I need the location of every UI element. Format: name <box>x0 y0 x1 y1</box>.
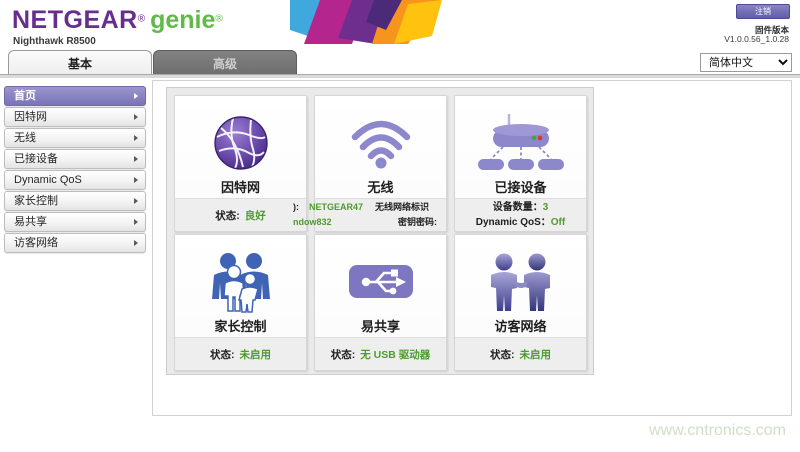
page-header: NETGEAR®genie® Nighthawk R8500 注销 固件版本 V… <box>0 0 800 48</box>
chevron-right-icon <box>134 135 138 141</box>
qos-value: Off <box>551 217 565 228</box>
device-count-row: 设备数量：3 <box>455 200 586 215</box>
sidebar-nav: 首页 因特网 无线 已接设备 Dynamic QoS 家长控制 易共享 访客网 <box>4 86 148 254</box>
sidebar-item-internet[interactable]: 因特网 <box>4 107 146 127</box>
device-count-label: 设备数量： <box>493 202 543 213</box>
handshake-people-icon <box>455 243 586 321</box>
tile-parental-controls[interactable]: 家长控制 状态: 未启用 <box>174 234 307 371</box>
qos-row: Dynamic QoS：Off <box>455 215 586 230</box>
tile-readyshare[interactable]: 易共享 状态: 无 USB 驱动器 <box>314 234 447 371</box>
tile-icon-area: 已接设备 <box>455 96 586 200</box>
wireless-password-label: 密钥密码: <box>398 215 437 229</box>
tile-internet[interactable]: 因特网 状态: 良好 <box>174 95 307 232</box>
genie-wordmark: genie <box>150 6 215 34</box>
usb-icon <box>315 243 446 321</box>
router-devices-icon <box>455 104 586 182</box>
tab-strip-divider <box>0 74 800 78</box>
tile-icon-area: 因特网 <box>175 96 306 200</box>
tab-basic[interactable]: 基本 <box>8 50 152 76</box>
tile-title: 家长控制 <box>175 316 306 335</box>
router-model-label: Nighthawk R8500 <box>13 36 96 47</box>
qos-label: Dynamic QoS： <box>476 217 551 228</box>
tile-icon-area: 无线 <box>315 96 446 200</box>
tile-icon-area: 访客网络 <box>455 235 586 339</box>
tile-guest-network[interactable]: 访客网络 状态: 未启用 <box>454 234 587 371</box>
sidebar-item-label: 易共享 <box>14 216 47 228</box>
status-badge: 无 USB 驱动器 <box>360 347 430 362</box>
chevron-right-icon <box>134 177 138 183</box>
tile-title: 易共享 <box>315 316 446 335</box>
chevron-right-icon <box>134 114 138 120</box>
sidebar-item-label: 访客网络 <box>14 237 58 249</box>
wireless-ssid-value: NETGEAR47 <box>309 200 363 214</box>
sidebar-item-wireless[interactable]: 无线 <box>4 128 146 148</box>
tile-status-area: 状态: 良好 <box>175 198 306 231</box>
sidebar-item-parental-controls[interactable]: 家长控制 <box>4 191 146 211</box>
sidebar-item-attached-devices[interactable]: 已接设备 <box>4 149 146 169</box>
status-label: 状态: <box>331 347 356 362</box>
attached-devices-status: 设备数量：3 Dynamic QoS：Off <box>455 200 586 230</box>
logout-button[interactable]: 注销 <box>736 4 790 19</box>
status-badge: 未启用 <box>240 347 272 362</box>
firmware-version-value: V1.0.0.56_1.0.28 <box>724 34 789 44</box>
tile-title: 已接设备 <box>455 177 586 196</box>
tile-attached-devices[interactable]: 已接设备 设备数量：3 Dynamic QoS：Off <box>454 95 587 232</box>
chevron-right-icon <box>134 156 138 162</box>
status-badge: 良好 <box>245 208 266 223</box>
tile-title: 因特网 <box>175 177 306 196</box>
chevron-right-icon <box>134 198 138 204</box>
tile-status-area: 状态: 未启用 <box>455 337 586 370</box>
status-label: 状态: <box>210 347 235 362</box>
tile-wireless[interactable]: 无线 ): NETGEAR47 无线网络标识 ndow832 密钥密码: <box>314 95 447 232</box>
sidebar-item-readyshare[interactable]: 易共享 <box>4 212 146 232</box>
sidebar-item-label: 首页 <box>14 90 36 102</box>
wifi-icon <box>315 104 446 182</box>
sidebar-item-label: 家长控制 <box>14 195 58 207</box>
sidebar-item-label: Dynamic QoS <box>14 174 82 186</box>
tile-icon-area: 易共享 <box>315 235 446 339</box>
wireless-ssid-label: 无线网络标识 <box>375 200 429 214</box>
genie-admin-page: NETGEAR®genie® Nighthawk R8500 注销 固件版本 V… <box>0 0 800 452</box>
sidebar-item-label: 已接设备 <box>14 153 58 165</box>
wireless-ssid-prefix: ): <box>293 200 299 214</box>
chevron-right-icon <box>134 219 138 225</box>
tab-advanced[interactable]: 高级 <box>153 50 297 76</box>
sidebar-item-label: 因特网 <box>14 111 47 123</box>
tile-title: 访客网络 <box>455 316 586 335</box>
wireless-status-text: ): NETGEAR47 无线网络标识 ndow832 密钥密码: <box>293 200 471 230</box>
sidebar-item-home[interactable]: 首页 <box>4 86 146 106</box>
tile-status-area: 状态: 未启用 <box>175 337 306 370</box>
device-count-value: 3 <box>543 202 549 213</box>
sidebar-item-guest-network[interactable]: 访客网络 <box>4 233 146 253</box>
dashboard-tile-grid: 因特网 状态: 良好 <box>166 87 594 375</box>
decorative-geometric-logo <box>290 0 460 44</box>
netgear-registered-mark: ® <box>138 14 145 25</box>
wireless-password-value: ndow832 <box>293 215 332 229</box>
tile-icon-area: 家长控制 <box>175 235 306 339</box>
status-label: 状态: <box>490 347 515 362</box>
tile-status-area: 状态: 无 USB 驱动器 <box>315 337 446 370</box>
status-badge: 未启用 <box>520 347 552 362</box>
chevron-right-icon <box>134 93 138 99</box>
globe-icon <box>175 104 306 182</box>
netgear-wordmark: NETGEAR <box>12 6 138 34</box>
family-icon <box>175 243 306 321</box>
genie-registered-mark: ® <box>215 14 222 25</box>
site-watermark: www.cntronics.com <box>649 422 786 440</box>
tile-title: 无线 <box>315 177 446 196</box>
language-select[interactable]: 简体中文 <box>700 53 792 72</box>
sidebar-item-label: 无线 <box>14 132 36 144</box>
content-panel: 因特网 状态: 良好 <box>152 80 792 416</box>
status-label: 状态: <box>215 208 240 223</box>
sidebar-item-dynamic-qos[interactable]: Dynamic QoS <box>4 170 146 190</box>
chevron-right-icon <box>134 240 138 246</box>
netgear-genie-logo: NETGEAR®genie® <box>12 6 223 35</box>
